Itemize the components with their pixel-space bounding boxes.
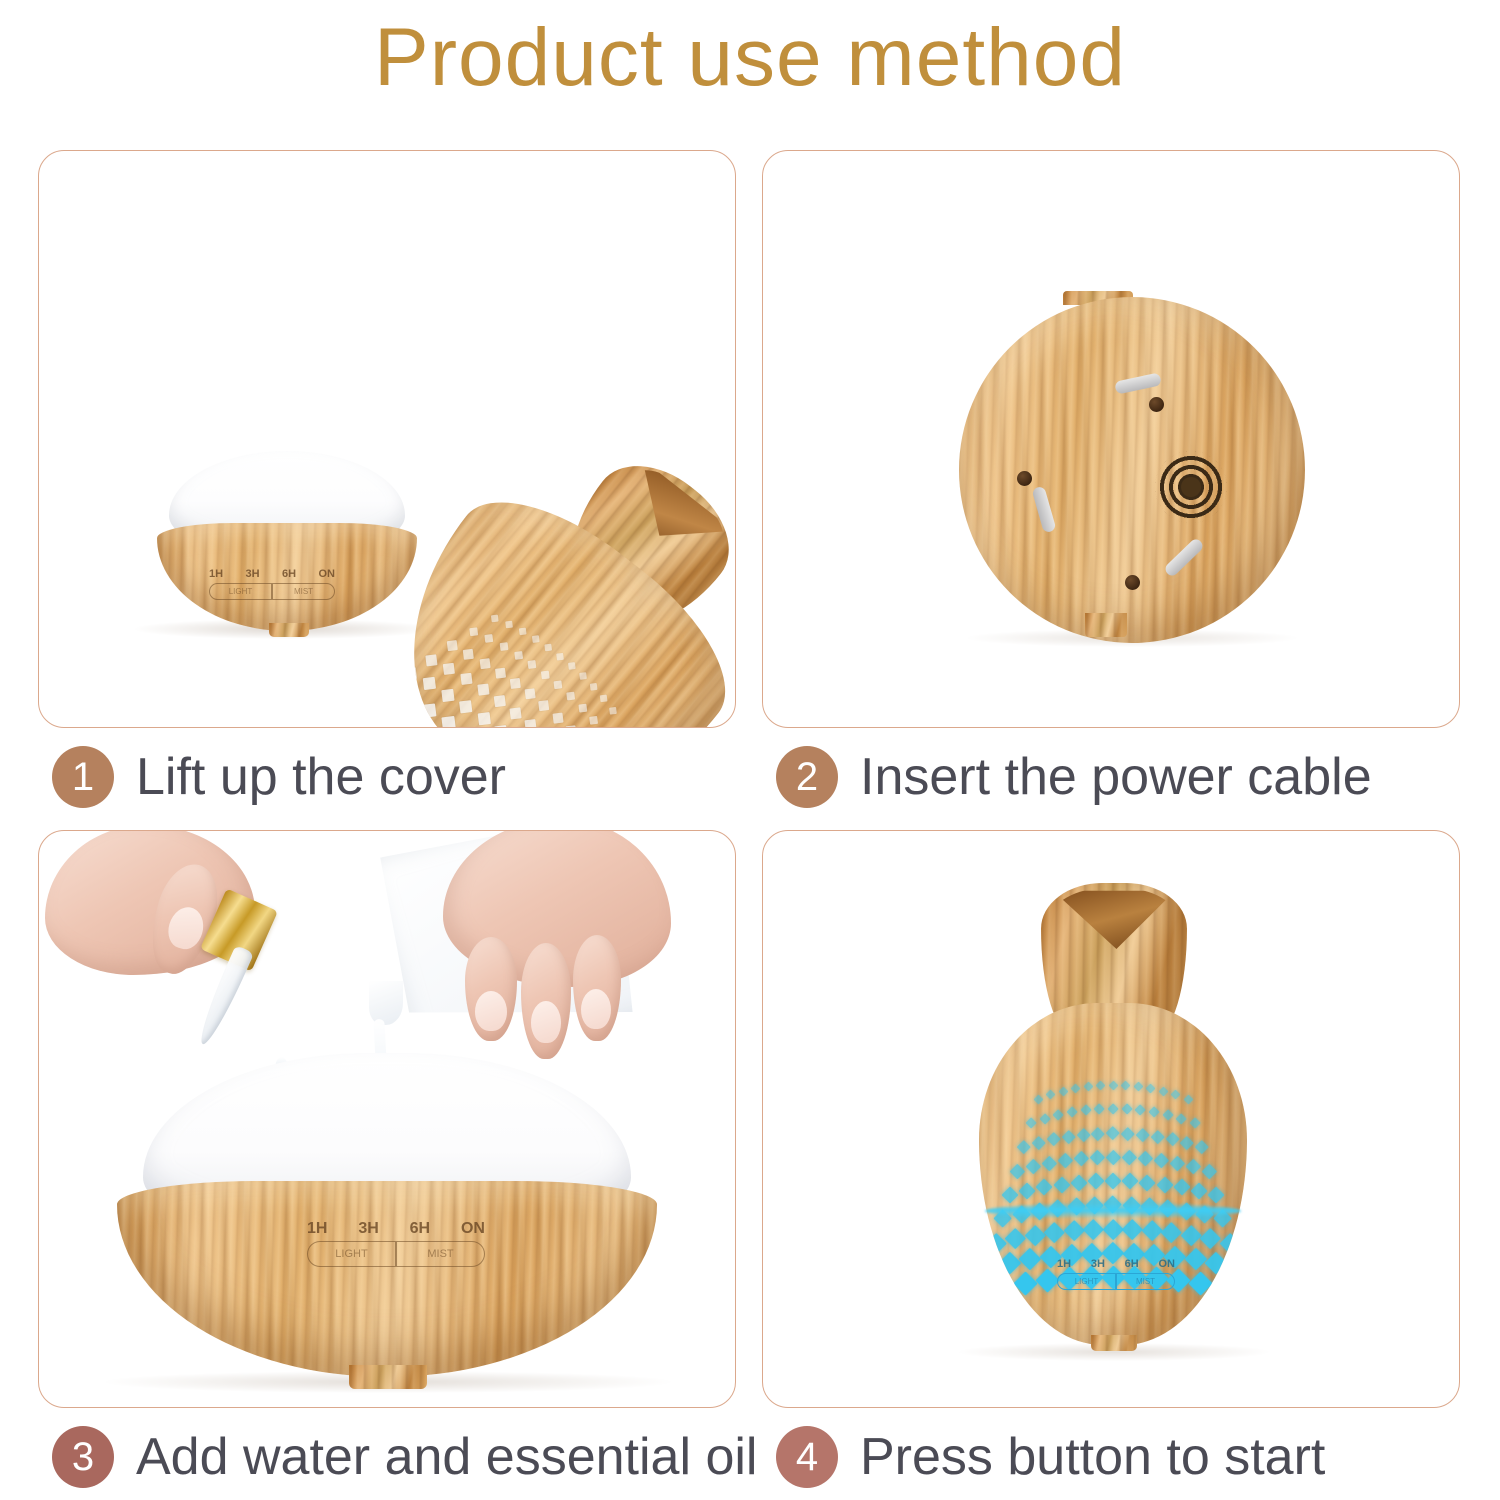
diffuser-base: 1H 3H 6H ON LIGHT MIST	[157, 451, 417, 631]
step-1-label: Lift up the cover	[136, 747, 506, 807]
step-3-label: Add water and essential oil	[136, 1427, 758, 1487]
step-1-photo: 1H 3H 6H ON LIGHT MIST	[38, 150, 736, 728]
steps-grid: 1H 3H 6H ON LIGHT MIST	[38, 150, 1462, 1490]
page-title: Product use method	[0, 14, 1500, 103]
vase-body	[979, 1003, 1247, 1345]
timer-3h: 3H	[1091, 1259, 1105, 1270]
timer-6h: 6H	[282, 569, 296, 580]
step-card-2: 2 Insert the power cable	[762, 150, 1462, 810]
mist-button[interactable]: MIST	[1116, 1273, 1175, 1290]
timer-on: ON	[461, 1221, 485, 1237]
mist-button[interactable]: MIST	[396, 1241, 485, 1267]
mist-button[interactable]: MIST	[272, 583, 335, 600]
step-card-1: 1H 3H 6H ON LIGHT MIST	[38, 150, 738, 810]
led-light-ring	[985, 1203, 1241, 1219]
base-foot	[1091, 1335, 1137, 1351]
light-button[interactable]: LIGHT	[1057, 1273, 1116, 1290]
timer-1h: 1H	[307, 1221, 327, 1237]
step-3-photo: 1H 3H 6H ON LIGHT MIST	[38, 830, 736, 1408]
fan-vent-icon	[1155, 451, 1227, 523]
timer-6h: 6H	[1125, 1259, 1139, 1270]
timer-on: ON	[319, 569, 336, 580]
step-badge-2: 2	[776, 746, 838, 808]
timer-on: ON	[1158, 1259, 1175, 1270]
fingernail	[581, 989, 611, 1029]
diamond-lattice-cutouts-lit	[979, 1003, 1247, 1345]
light-button[interactable]: LIGHT	[307, 1241, 396, 1267]
timer-3h: 3H	[358, 1221, 378, 1237]
control-panel[interactable]: 1H 3H 6H ON LIGHT MIST	[209, 569, 335, 600]
base-foot	[349, 1365, 427, 1389]
step-badge-4: 4	[776, 1426, 838, 1488]
control-keys: LIGHT MIST	[307, 1241, 485, 1267]
step-3-caption: 3 Add water and essential oil	[52, 1426, 758, 1488]
step-badge-1: 1	[52, 746, 114, 808]
pitcher-spout	[369, 981, 403, 1025]
timer-labels: 1H 3H 6H ON	[1057, 1259, 1175, 1270]
step-card-4: 1H 3H 6H ON LIGHT MIST 4 Press button to…	[762, 830, 1462, 1490]
step-2-label: Insert the power cable	[860, 747, 1372, 807]
diffuser-open-reservoir: 1H 3H 6H ON LIGHT MIST	[117, 1053, 657, 1383]
fingernail	[531, 1001, 561, 1043]
power-cable-port[interactable]	[1085, 613, 1127, 637]
step-4-photo: 1H 3H 6H ON LIGHT MIST	[762, 830, 1460, 1408]
control-keys: LIGHT MIST	[209, 583, 335, 600]
timer-6h: 6H	[410, 1221, 430, 1237]
step-2-caption: 2 Insert the power cable	[776, 746, 1372, 808]
light-button[interactable]: LIGHT	[209, 583, 272, 600]
diffuser-underside	[959, 297, 1305, 643]
base-foot	[269, 623, 309, 637]
fingernail	[475, 991, 507, 1031]
timer-labels: 1H 3H 6H ON	[209, 569, 335, 580]
control-panel[interactable]: 1H 3H 6H ON LIGHT MIST	[1057, 1259, 1175, 1290]
timer-3h: 3H	[246, 569, 260, 580]
timer-1h: 1H	[1057, 1259, 1071, 1270]
rubber-foot	[1017, 471, 1032, 486]
rubber-foot	[1125, 575, 1140, 590]
assembled-diffuser: 1H 3H 6H ON LIGHT MIST	[979, 883, 1247, 1353]
control-panel[interactable]: 1H 3H 6H ON LIGHT MIST	[307, 1221, 485, 1267]
wood-base-body	[117, 1181, 657, 1377]
control-keys: LIGHT MIST	[1057, 1273, 1175, 1290]
timer-1h: 1H	[209, 569, 223, 580]
step-4-label: Press button to start	[860, 1427, 1325, 1487]
step-1-caption: 1 Lift up the cover	[52, 746, 506, 808]
step-2-photo	[762, 150, 1460, 728]
rubber-foot	[1149, 397, 1164, 412]
step-card-3: 1H 3H 6H ON LIGHT MIST 3 Add water and e…	[38, 830, 738, 1490]
step-badge-3: 3	[52, 1426, 114, 1488]
timer-labels: 1H 3H 6H ON	[307, 1221, 485, 1237]
step-4-caption: 4 Press button to start	[776, 1426, 1325, 1488]
